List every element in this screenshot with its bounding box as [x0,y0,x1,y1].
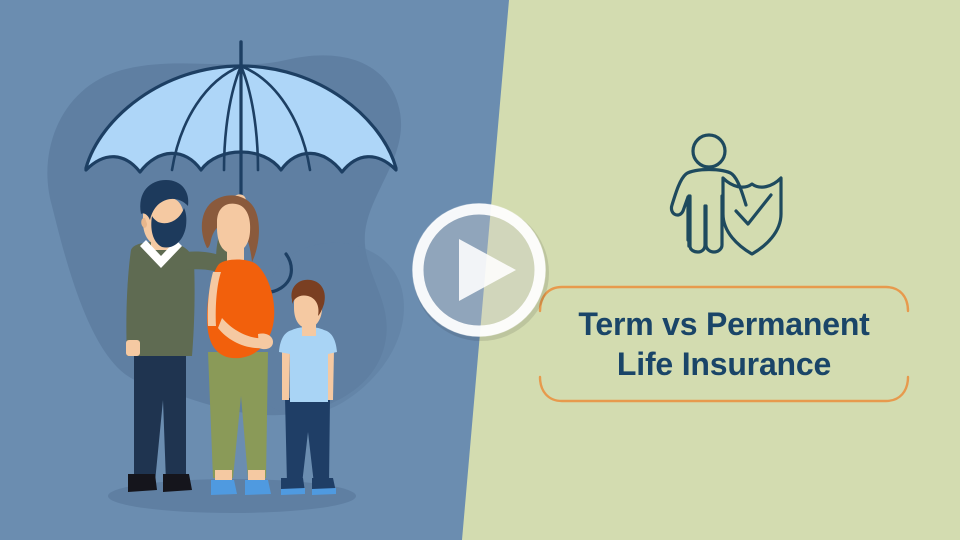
play-button-group[interactable] [412,203,549,341]
video-thumbnail[interactable]: Term vs Permanent Life Insurance [0,0,960,540]
play-button[interactable] [0,0,960,540]
